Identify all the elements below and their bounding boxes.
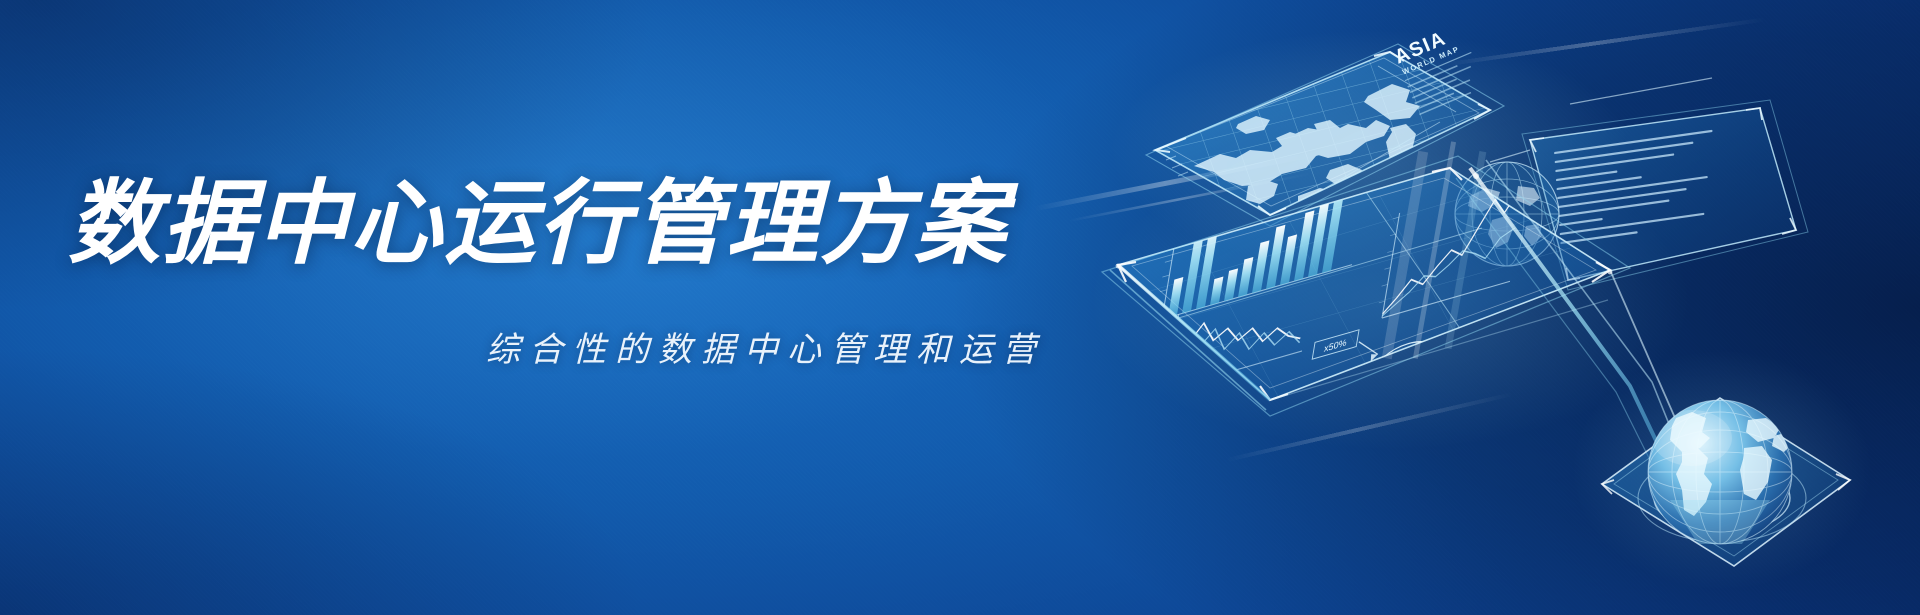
banner-subtitle: 综合性的数据中心管理和运营 [486, 330, 1045, 371]
hero-banner: 数据中心运行管理方案 综合性的数据中心管理和运营 [0, 0, 1920, 615]
banner-title: 数据中心运行管理方案 [68, 178, 1008, 270]
data-center-hologram-illustration: ASIA WORLD MAP [970, 0, 1920, 615]
